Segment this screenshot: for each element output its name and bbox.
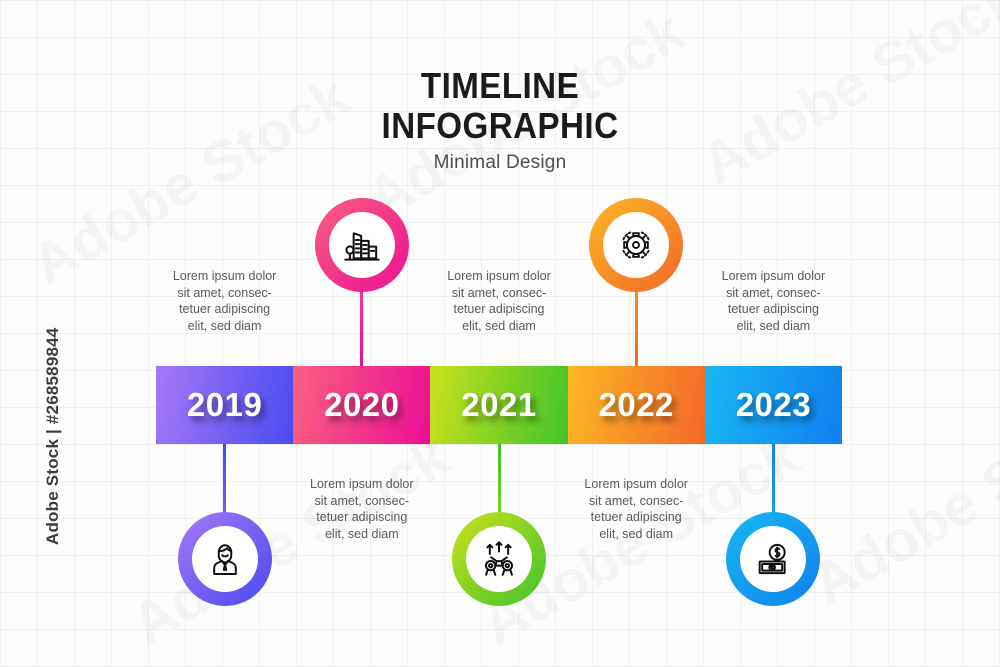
description-line: sit amet, consec-: [560, 493, 712, 510]
milestone-circle-2021[interactable]: [452, 512, 546, 606]
description-line: elit, sed diam: [560, 526, 712, 543]
milestone-circle-2022[interactable]: [589, 198, 683, 292]
description-line: Lorem ipsum dolor: [697, 268, 849, 285]
milestone-circle-2019[interactable]: [178, 512, 272, 606]
description-line: tetuer adipiscing: [149, 301, 301, 318]
milestone-circle-2020[interactable]: [315, 198, 409, 292]
description-line: tetuer adipiscing: [286, 509, 438, 526]
description-line: sit amet, consec-: [697, 285, 849, 302]
businessman-icon: [192, 526, 258, 592]
description-line: tetuer adipiscing: [697, 301, 849, 318]
description-line: sit amet, consec-: [423, 285, 575, 302]
milestone-description-2019: Lorem ipsum dolorsit amet, consec-tetuer…: [149, 268, 301, 334]
year-label: 2019: [187, 386, 262, 424]
gear-cog-icon: [603, 212, 669, 278]
connector-line-2022: [635, 286, 638, 366]
milestone-description-2022: Lorem ipsum dolorsit amet, consec-tetuer…: [560, 476, 712, 542]
description-line: tetuer adipiscing: [423, 301, 575, 318]
timeline-segment-2019[interactable]: 2019: [156, 366, 293, 444]
description-line: sit amet, consec-: [286, 493, 438, 510]
page-subtitle: Minimal Design: [0, 152, 1000, 174]
title-line-2: INFOGRAPHIC: [40, 106, 960, 146]
timeline-segment-2022[interactable]: 2022: [568, 366, 705, 444]
description-line: Lorem ipsum dolor: [560, 476, 712, 493]
description-line: Lorem ipsum dolor: [423, 268, 575, 285]
description-line: elit, sed diam: [423, 318, 575, 335]
milestone-description-2021: Lorem ipsum dolorsit amet, consec-tetuer…: [423, 268, 575, 334]
description-line: tetuer adipiscing: [560, 509, 712, 526]
year-label: 2023: [736, 386, 811, 424]
description-line: elit, sed diam: [286, 526, 438, 543]
description-line: Lorem ipsum dolor: [149, 268, 301, 285]
milestone-description-2020: Lorem ipsum dolorsit amet, consec-tetuer…: [286, 476, 438, 542]
year-label: 2021: [461, 386, 536, 424]
description-line: Lorem ipsum dolor: [286, 476, 438, 493]
title-line-1: TIMELINE: [40, 66, 960, 106]
timeline-bar: 20192020202120222023: [156, 366, 842, 444]
description-line: sit amet, consec-: [149, 285, 301, 302]
watermark-stock-id: Adobe Stock | #268589844: [43, 315, 63, 545]
timeline-segment-2021[interactable]: 2021: [430, 366, 567, 444]
page-title: TIMELINE INFOGRAPHIC Minimal Design: [0, 66, 1000, 174]
infographic-canvas: Adobe Stock Adobe Stock Adobe Stock Adob…: [0, 0, 1000, 667]
city-buildings-icon: [329, 212, 395, 278]
year-label: 2022: [599, 386, 674, 424]
milestone-description-2023: Lorem ipsum dolorsit amet, consec-tetuer…: [697, 268, 849, 334]
timeline-segment-2020[interactable]: 2020: [293, 366, 430, 444]
description-line: elit, sed diam: [697, 318, 849, 335]
binoculars-growth-icon: [466, 526, 532, 592]
description-line: elit, sed diam: [149, 318, 301, 335]
year-label: 2020: [324, 386, 399, 424]
connector-line-2020: [360, 286, 363, 366]
milestone-circle-2023[interactable]: [726, 512, 820, 606]
money-cash-icon: [740, 526, 806, 592]
timeline-segment-2023[interactable]: 2023: [705, 366, 842, 444]
